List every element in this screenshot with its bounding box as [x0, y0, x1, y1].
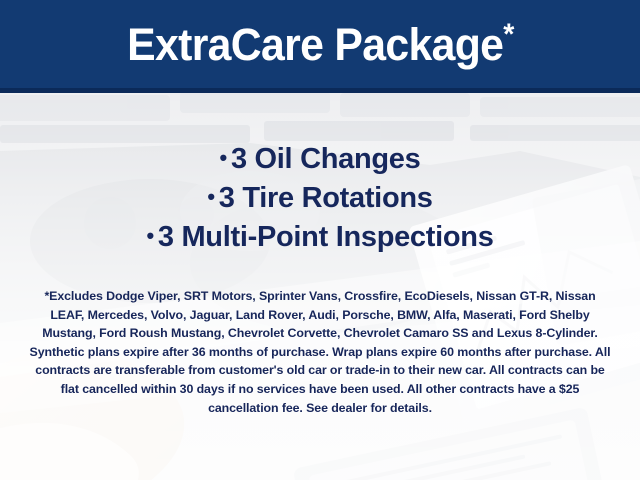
- page-title: ExtraCare Package*: [127, 22, 514, 67]
- list-item: •3 Multi-Point Inspections: [0, 217, 640, 256]
- list-item-label: 3 Oil Changes: [231, 143, 421, 175]
- disclaimer-text: *Excludes Dodge Viper, SRT Motors, Sprin…: [28, 287, 612, 417]
- list-item: •3 Tire Rotations: [0, 178, 640, 217]
- page-title-asterisk: *: [503, 18, 513, 51]
- bullet-dot-icon: •: [220, 145, 231, 170]
- banner-underline-divider: [0, 88, 640, 93]
- list-item: •3 Oil Changes: [0, 139, 640, 178]
- page-title-text: ExtraCare Package: [127, 19, 503, 70]
- bullet-dot-icon: •: [207, 184, 218, 209]
- extracare-package-ad: ExtraCare Package* •3 Oil Changes •3 Tir…: [0, 0, 640, 480]
- list-item-label: 3 Multi-Point Inspections: [158, 221, 494, 253]
- offer-list: •3 Oil Changes •3 Tire Rotations •3 Mult…: [0, 139, 640, 256]
- ad-content: •3 Oil Changes •3 Tire Rotations •3 Mult…: [0, 91, 640, 480]
- list-item-label: 3 Tire Rotations: [219, 182, 433, 214]
- bullet-dot-icon: •: [146, 223, 157, 248]
- header-banner: ExtraCare Package*: [0, 0, 640, 91]
